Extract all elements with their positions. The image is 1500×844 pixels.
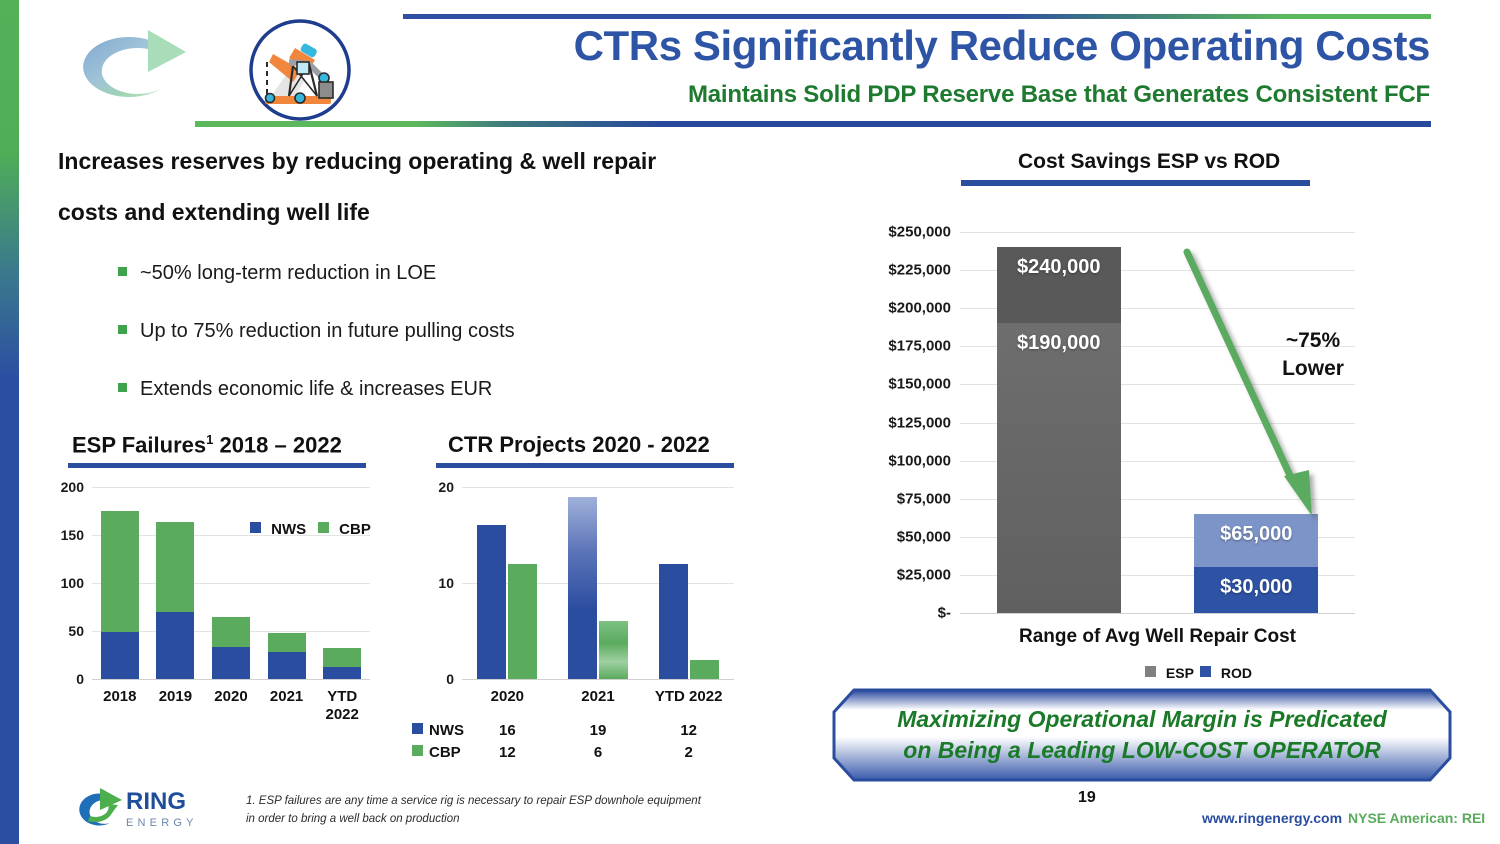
lead-text-line2: costs and extending well life [58,199,370,226]
bar-value-label-high: $65,000 [1194,523,1318,546]
esp-failures-chart [92,487,370,679]
y-axis-tick-label: $50,000 [835,528,951,545]
bar-segment-nws [156,612,194,679]
y-axis-tick-label: 10 [420,575,454,591]
bar-esp-low [997,323,1121,613]
bar-segment-cbp [212,617,250,648]
legend-label-cbp: CBP [339,521,371,538]
table-cell: 2 [633,744,744,761]
bullet-item-3: Extends economic life & increases EUR [118,378,492,401]
bar-value-label-high: $240,000 [997,256,1121,279]
bar-value-label-low: $30,000 [1194,576,1318,599]
cost-savings-xaxis-title: Range of Avg Well Repair Cost [960,626,1355,648]
bullet-item-1: ~50% long-term reduction in LOE [118,262,436,285]
y-axis-tick-label: 100 [34,575,84,591]
y-axis-tick-label: $100,000 [835,452,951,469]
bullet-square-icon [118,325,127,334]
slide-root: CTRs Significantly Reduce Operating Cost… [0,0,1500,844]
bullet-label: ~50% long-term reduction in LOE [140,262,436,284]
legend-label-esp: ESP [1166,665,1194,681]
bar-cbp [599,621,628,679]
svg-text:RING: RING [126,788,186,815]
slide-number: 19 [1078,789,1096,807]
bullet-item-2: Up to 75% reduction in future pulling co… [118,320,515,343]
page-title: CTRs Significantly Reduce Operating Cost… [430,24,1430,68]
gridline [462,487,734,488]
y-axis-tick-label: $75,000 [835,490,951,507]
bar-segment-cbp [101,511,139,632]
header-rule-bottom [195,121,1431,127]
table-cell: 12 [633,722,744,739]
website-url[interactable]: www.ringenergy.com [1202,810,1342,826]
cost-savings-title-rule [961,180,1310,186]
bar-segment-nws [212,647,250,679]
ring-energy-logo: RING ENERGY [62,783,222,833]
gridline [960,232,1355,233]
y-axis-tick-label: $25,000 [835,566,951,583]
cost-savings-chart-title: Cost Savings ESP vs ROD [1018,150,1280,174]
y-axis-tick-label: 0 [34,671,84,687]
y-axis-tick-label: 150 [34,527,84,543]
bullet-label: Up to 75% reduction in future pulling co… [140,320,515,342]
x-axis-tick-label: YTD 2022 [633,688,744,706]
y-axis-tick-label: 200 [34,479,84,495]
x-axis-tick-label: YTD2022 [306,688,378,723]
legend-item-rod: ROD [1200,665,1252,681]
footnote: 1. ESP failures are any time a service r… [246,793,701,829]
bar-segment-cbp [323,648,361,666]
bar-cbp [690,660,719,679]
y-axis-tick-label: 20 [420,479,454,495]
banner-line-2: on Being a Leading LOW-COST OPERATOR [903,735,1380,766]
bar-nws [477,525,506,679]
svg-text:ENERGY: ENERGY [126,817,198,829]
y-axis-tick-label: $150,000 [835,376,951,393]
bullet-label: Extends economic life & increases EUR [140,378,492,400]
footnote-line-2: in order to bring a well back on product… [246,811,701,829]
y-axis-tick-label: $250,000 [835,224,951,241]
callout-banner: Maximizing Operational Margin is Predica… [832,688,1452,782]
bar-nws [568,497,597,679]
gridline [462,679,734,680]
bar-segment-nws [101,632,139,679]
esp-failures-title-rule [68,463,366,468]
ctr-projects-chart [462,487,734,679]
bar-segment-nws [323,667,361,679]
gridline [92,679,370,680]
legend-swatch-cbp [318,522,329,533]
footnote-line-1: 1. ESP failures are any time a service r… [246,793,701,811]
stock-ticker: NYSE American: REI [1348,810,1485,826]
bar-segment-cbp [268,633,306,652]
bar-nws [659,564,688,679]
bar-value-label-low: $190,000 [997,332,1121,355]
page-subtitle: Maintains Solid PDP Reserve Base that Ge… [430,81,1430,109]
banner-line-1: Maximizing Operational Margin is Predica… [897,704,1387,735]
circular-arrow-logo [62,16,212,116]
bullet-square-icon [118,383,127,392]
y-axis-tick-label: $- [835,605,951,622]
y-axis-tick-label: $225,000 [835,262,951,279]
table-swatch [412,723,423,734]
legend-item-esp: ESP [1145,665,1194,681]
legend-swatch-esp [1145,666,1156,677]
legend-item-nws: NWS [250,521,306,538]
bar-segment-nws [268,652,306,679]
esp-failures-chart-title: ESP Failures1 2018 – 2022 [72,432,342,458]
y-axis-tick-label: $125,000 [835,414,951,431]
legend-label-nws: NWS [271,521,306,538]
ctr-projects-title-rule [436,463,734,468]
legend-swatch-rod [1200,666,1211,677]
bar-cbp [508,564,537,679]
legend-swatch-nws [250,522,261,533]
left-accent-bar [0,0,19,844]
y-axis-tick-label: $175,000 [835,338,951,355]
gridline [92,487,370,488]
y-axis-tick-label: 0 [420,671,454,687]
bullet-square-icon [118,267,127,276]
gridline [960,613,1355,614]
y-axis-tick-label: $200,000 [835,300,951,317]
pumpjack-icon [243,18,357,122]
y-axis-tick-label: 50 [34,623,84,639]
lead-text-line1: Increases reserves by reducing operating… [58,148,656,175]
callout-banner-text: Maximizing Operational Margin is Predica… [832,688,1452,782]
ctr-projects-chart-title: CTR Projects 2020 - 2022 [448,432,710,458]
header-rule-top [403,14,1431,19]
legend-item-cbp: CBP [318,521,371,538]
bar-segment-cbp [156,522,194,612]
legend-label-rod: ROD [1221,665,1252,681]
table-swatch [412,745,423,756]
down-right-arrow-icon [1160,236,1350,526]
